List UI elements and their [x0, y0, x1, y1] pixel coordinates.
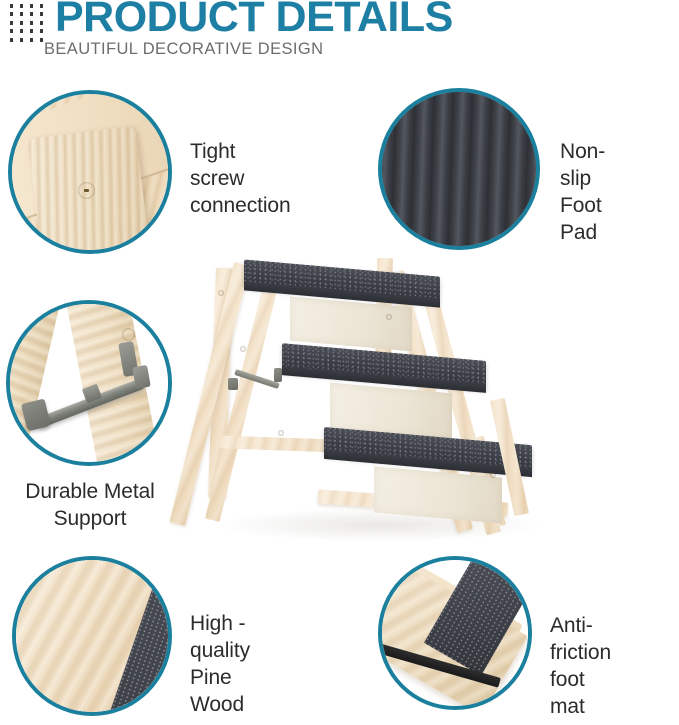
callout-image-high-quality-pine-wood: [12, 556, 172, 716]
callout-image-tight-screw-connection: [8, 90, 172, 254]
callout-label-high-quality-pine-wood: High -quality Pine Wood: [190, 610, 250, 718]
wood-joint-photo: [8, 90, 172, 254]
product-image-pet-stairs: [190, 250, 580, 545]
screw-head-icon: [386, 314, 392, 320]
callout-label-durable-metal-support: Durable Metal Support: [8, 478, 172, 532]
callout-label-non-slip-foot-pad: Non-slip Foot Pad: [560, 138, 605, 246]
pine-plank-photo: [12, 556, 172, 716]
ribbed-carpet-photo: [378, 88, 540, 250]
callout-image-durable-metal-support: [6, 300, 172, 466]
metal-brace-photo: [6, 300, 172, 466]
callout-label-tight-screw-connection: Tight screw connection: [190, 138, 291, 219]
screw-head-icon: [278, 430, 284, 436]
brace-bracket-left: [228, 378, 238, 390]
screw-head-icon: [490, 472, 496, 478]
callout-image-anti-friction-foot-mat: [378, 556, 532, 710]
page-header: PRODUCT DETAILS BEAUTIFUL DECORATIVE DES…: [0, 0, 679, 72]
screw-head-icon: [240, 346, 246, 352]
callout-image-non-slip-foot-pad: [378, 88, 540, 250]
brace-bracket-right: [274, 368, 282, 382]
callout-label-anti-friction-foot-mat: Anti-friction foot mat: [550, 612, 611, 720]
page-subtitle: BEAUTIFUL DECORATIVE DESIGN: [44, 40, 323, 59]
wood-foot-rubber-mat-photo: [378, 556, 532, 710]
page-title: PRODUCT DETAILS: [55, 0, 453, 39]
step-riser-top: [290, 297, 412, 352]
screw-head-icon: [122, 328, 135, 341]
screw-head-icon: [218, 290, 224, 296]
